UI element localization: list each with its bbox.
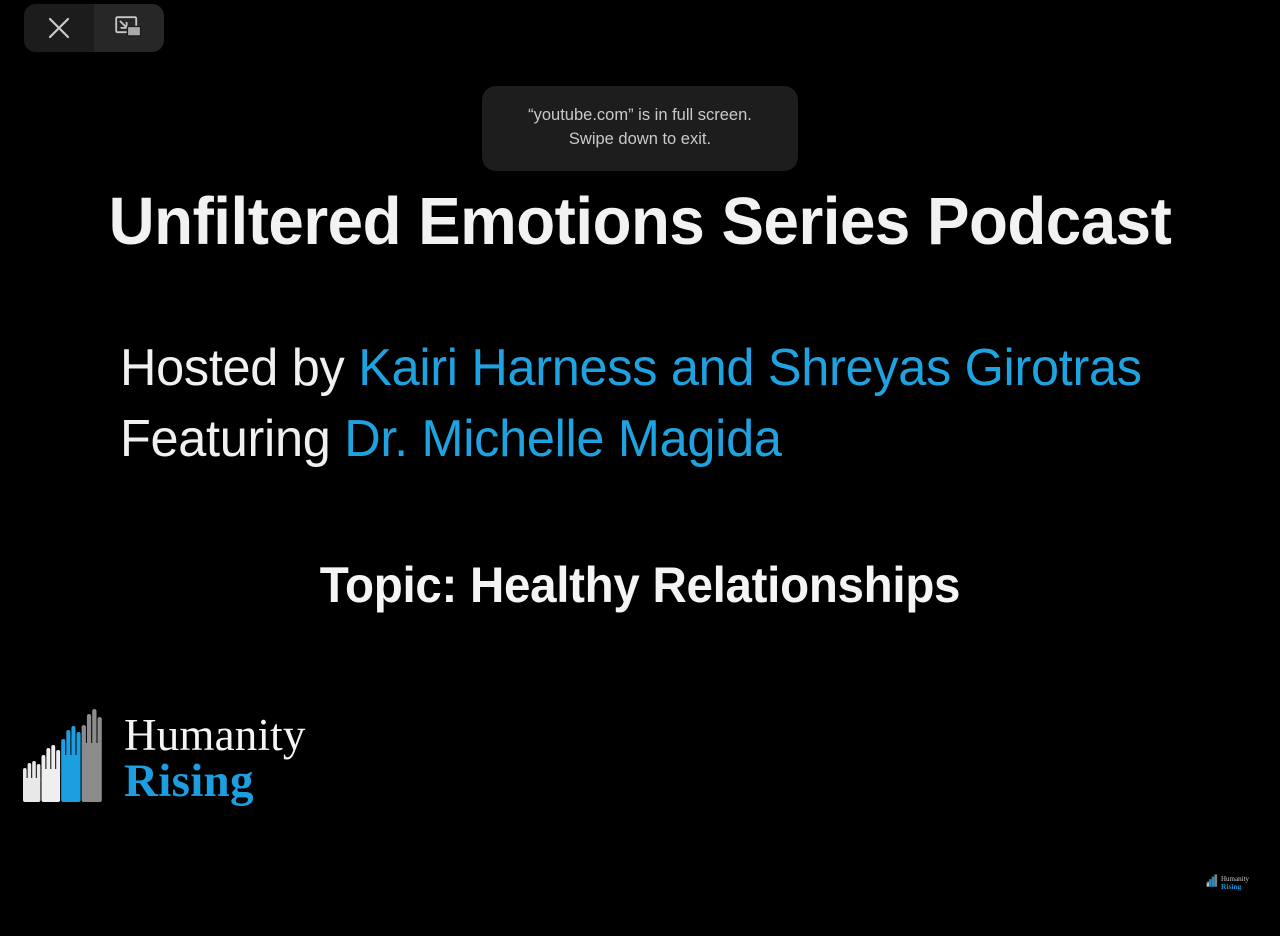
logo-word-humanity: Humanity	[124, 713, 306, 757]
logo-wordmark: Humanity Rising	[124, 713, 306, 809]
credit-line-featuring: Featuring Dr. Michelle Magida	[120, 404, 1142, 475]
watermark-hands-icon	[1206, 874, 1219, 892]
humanity-rising-logo: Humanity Rising	[22, 706, 306, 809]
raised-hands-icon	[22, 706, 112, 809]
credit-names-featuring: Dr. Michelle Magida	[344, 410, 781, 468]
video-player-stage: “youtube.com” is in full screen. Swipe d…	[0, 0, 1280, 936]
watermark-word-rising: Rising	[1221, 883, 1249, 891]
logo-word-rising: Rising	[124, 757, 306, 805]
credit-prefix-featuring: Featuring	[120, 410, 344, 468]
watermark-wordmark: Humanity Rising	[1221, 876, 1249, 891]
credits-block: Hosted by Kairi Harness and Shreyas Giro…	[120, 333, 1173, 475]
credit-line-hosts: Hosted by Kairi Harness and Shreyas Giro…	[120, 333, 1142, 404]
slide-topic: Topic: Healthy Relationships	[32, 556, 1248, 614]
presentation-slide: Unfiltered Emotions Series Podcast Hoste…	[0, 0, 1280, 936]
credit-prefix-hosted-by: Hosted by	[120, 339, 358, 397]
credit-names-hosts: Kairi Harness and Shreyas Girotras	[358, 339, 1141, 397]
slide-title: Unfiltered Emotions Series Podcast	[32, 183, 1248, 260]
corner-watermark: Humanity Rising	[1206, 874, 1249, 892]
